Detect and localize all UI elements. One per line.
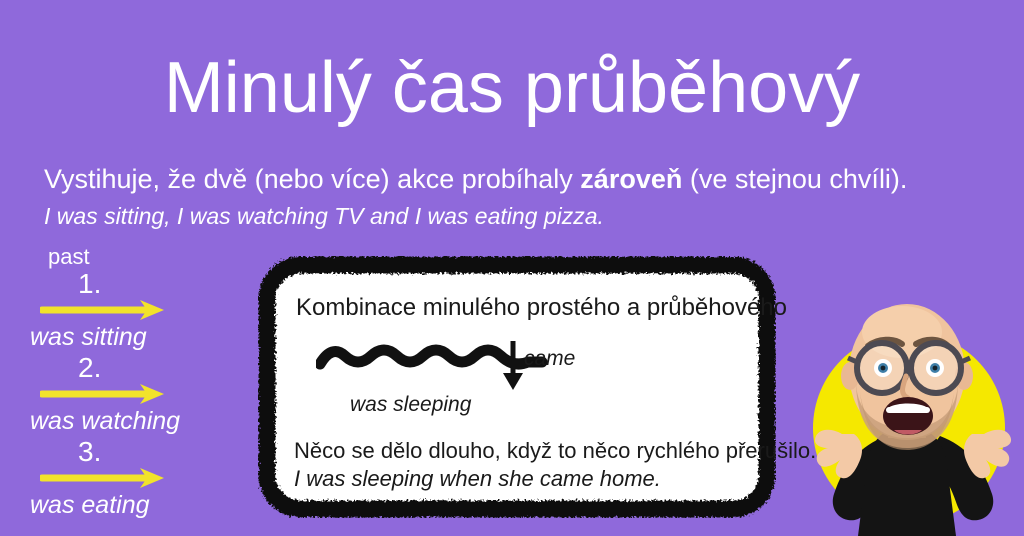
presenter-figure [790,288,1024,536]
step-label: was sitting [30,322,147,352]
intro-line-czech: Vystihuje, že dvě (nebo více) akce probí… [44,163,984,196]
timeline-step-3: 3. was eating [0,440,250,524]
arrow-right-icon [40,298,170,322]
step-number: 3. [78,436,101,468]
step-label: was eating [30,490,150,520]
step-label: was watching [30,406,180,436]
card-title: Kombinace minulého prostého a průběhovéh… [296,294,787,322]
card-content: Kombinace minulého prostého a průběhovéh… [278,274,756,496]
timeline-step-1: 1. was sitting [0,272,250,356]
arrow-right-icon [40,466,170,490]
intro-text-bold: zároveň [580,164,682,194]
timeline-column: past 1. was sitting 2. was watching [0,240,250,536]
step-number: 1. [78,268,101,300]
info-card: Kombinace minulého prostého a průběhovéh… [258,256,776,518]
card-example-english: I was sleeping when she came home. [294,466,661,492]
timeline-step-2: 2. was watching [0,356,250,440]
was-sleeping-label: was sleeping [350,392,471,417]
step-number: 2. [78,352,101,384]
intro-text-part2: (ve stejnou chvíli). [682,164,907,194]
intro-text-part1: Vystihuje, že dvě (nebo více) akce probí… [44,164,580,194]
arrow-right-icon [40,382,170,406]
card-explanation-czech: Něco se dělo dlouho, když to něco rychlé… [294,438,816,464]
page-title: Minulý čas průběhový [0,48,1024,128]
slide-root: Minulý čas průběhový Vystihuje, že dvě (… [0,0,1024,536]
past-label: past [48,244,90,270]
came-label: came [524,346,575,371]
intro-line-english: I was sitting, I was watching TV and I w… [44,202,604,230]
